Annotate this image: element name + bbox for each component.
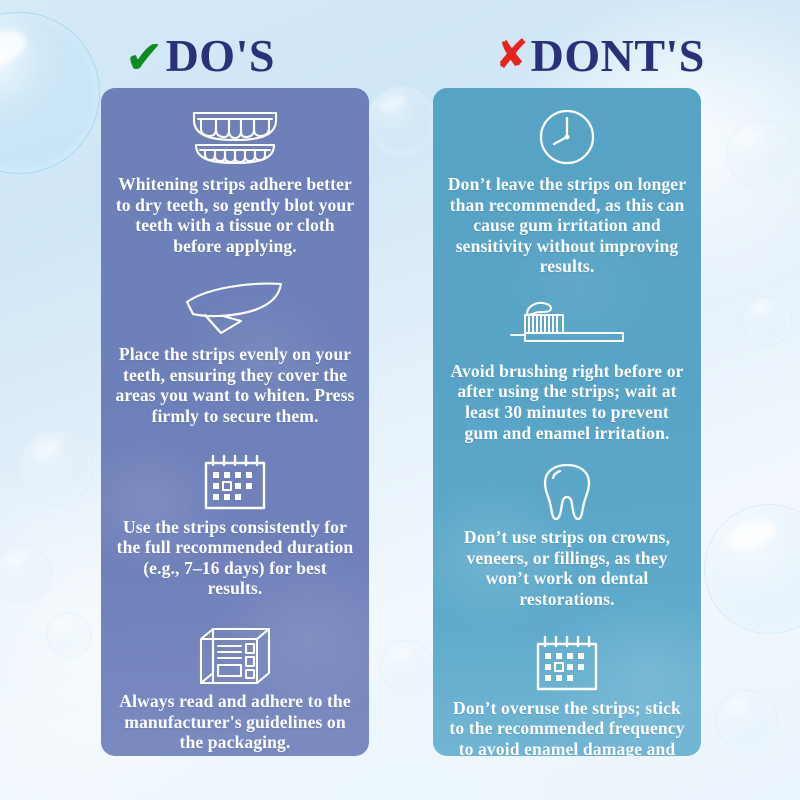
bubble-decoration: [726, 120, 794, 188]
list-item-text: Don’t overuse the strips; stick to the r…: [445, 698, 689, 756]
infographic-canvas: ✔ DO'S ✘ DONT'S: [0, 0, 800, 800]
whitening-strip-icon: [183, 278, 287, 340]
bubble-decoration: [380, 640, 434, 694]
bubble-decoration: [46, 612, 92, 658]
list-item: Place the strips evenly on your teeth, e…: [113, 278, 357, 426]
bubble-decoration: [18, 430, 94, 506]
bubble-decoration: [716, 690, 778, 752]
list-item-text: Avoid brushing right before or after usi…: [445, 361, 689, 443]
clock-icon: [537, 104, 597, 170]
list-item-text: Always read and adhere to the manufactur…: [113, 691, 357, 753]
list-item: Always read and adhere to the manufactur…: [113, 625, 357, 753]
header-donts: ✘ DONT'S: [400, 25, 800, 87]
calendar-icon: [534, 632, 600, 694]
list-item: Use the strips consistently for the full…: [113, 451, 357, 599]
list-item-text: Don’t leave the strips on longer than re…: [445, 174, 689, 277]
list-item-text: Use the strips consistently for the full…: [113, 517, 357, 599]
panel-donts: Don’t leave the strips on longer than re…: [433, 88, 701, 756]
header-dos: ✔ DO'S: [0, 25, 400, 87]
list-item: Avoid brushing right before or after usi…: [445, 295, 689, 443]
list-item: Don’t leave the strips on longer than re…: [445, 102, 689, 277]
list-item-text: Don’t use strips on crowns, veneers, or …: [445, 527, 689, 609]
calendar-icon: [202, 451, 268, 513]
bubble-decoration: [742, 296, 792, 346]
toothbrush-icon: [505, 295, 629, 357]
list-item-text: Place the strips evenly on your teeth, e…: [113, 344, 357, 426]
list-item: Don’t use strips on crowns, veneers, or …: [445, 461, 689, 609]
tooth-icon: [539, 461, 595, 523]
check-mark-icon: ✔: [125, 34, 164, 80]
bubble-decoration: [366, 86, 438, 158]
page-title-donts: DONT'S: [531, 33, 705, 79]
page-title-dos: DO'S: [166, 33, 275, 79]
list-item: Don’t overuse the strips; stick to the r…: [445, 632, 689, 756]
dentures-teeth-icon: [189, 104, 281, 170]
cross-mark-icon: ✘: [495, 35, 529, 75]
list-item: Whitening strips adhere better to dry te…: [113, 102, 357, 256]
list-item-text: Whitening strips adhere better to dry te…: [113, 174, 357, 256]
package-box-icon: [197, 625, 273, 687]
bubble-decoration: [0, 545, 52, 603]
headers-row: ✔ DO'S ✘ DONT'S: [0, 25, 800, 87]
bubble-decoration: [704, 504, 800, 634]
bubble-decoration: [0, 12, 100, 174]
panel-dos: Whitening strips adhere better to dry te…: [101, 88, 369, 756]
